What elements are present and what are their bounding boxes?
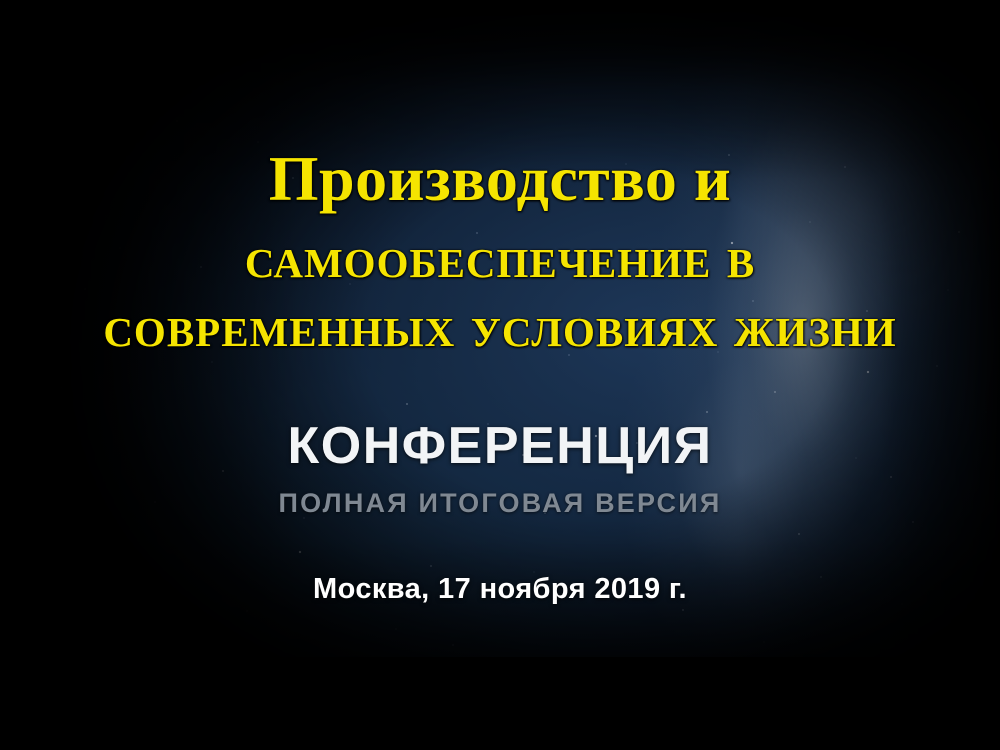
- title-line-1: Производство и: [0, 143, 1000, 215]
- event-date-location: Москва, 17 ноября 2019 г.: [0, 572, 1000, 606]
- title-line-3: современных условиях жизни: [0, 294, 1000, 360]
- conference-heading: КОНФЕРЕНЦИЯ: [0, 417, 1000, 475]
- title-slide-frame: Производство и самообеспечение в совреме…: [0, 0, 1000, 750]
- title-line-2: самообеспечение в: [0, 225, 1000, 291]
- slide-content: Производство и самообеспечение в совреме…: [0, 0, 1000, 750]
- version-subheading: ПОЛНАЯ ИТОГОВАЯ ВЕРСИЯ: [0, 487, 1000, 519]
